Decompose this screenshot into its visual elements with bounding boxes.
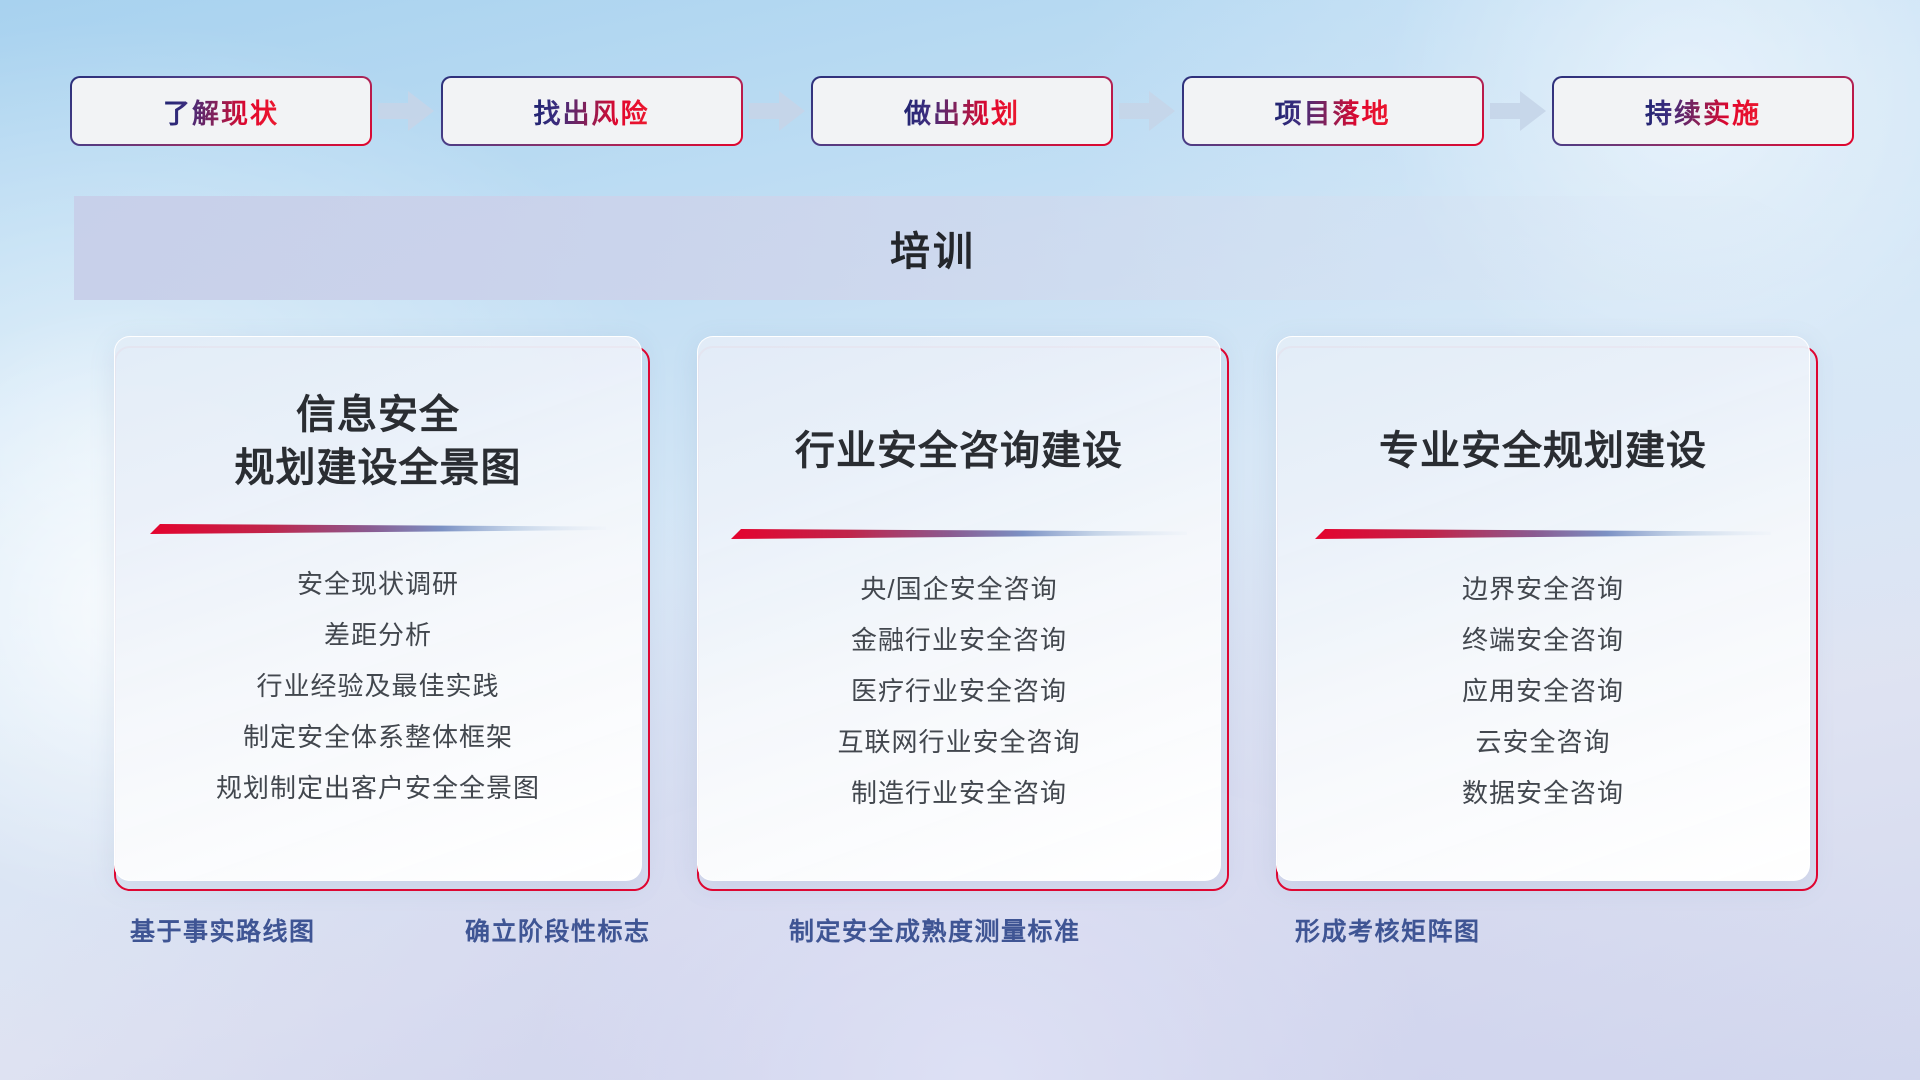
list-item: 医疗行业安全咨询 [851,666,1067,717]
step-box-4[interactable]: 项目落地 [1182,76,1484,146]
card-wrapper-2: 行业安全咨询建设 [697,336,1221,881]
step-arrow-2 [743,91,812,131]
caption-3: 制定安全成熟度测量标准 [789,912,1081,948]
card-divider-3 [1315,526,1771,542]
list-item: 金融行业安全咨询 [851,615,1067,666]
list-item: 互联网行业安全咨询 [837,717,1080,768]
card-list-2: 央/国企安全咨询 金融行业安全咨询 医疗行业安全咨询 互联网行业安全咨询 制造行… [837,564,1080,819]
card-3[interactable]: 专业安全规划建设 [1276,336,1810,881]
caption-2: 确立阶段性标志 [465,912,651,948]
step-box-1[interactable]: 了解现状 [70,76,372,146]
list-item: 规划制定出客户安全全景图 [216,763,540,814]
right-arrow-icon [749,91,805,131]
card-row: 信息安全 规划建设全景图 [114,336,1814,881]
card-wrapper-1: 信息安全 规划建设全景图 [114,336,642,881]
list-item: 应用安全咨询 [1462,666,1624,717]
caption-1: 基于事实路线图 [130,912,316,948]
list-item: 央/国企安全咨询 [860,564,1057,615]
step-label-3: 做出规划 [904,92,1020,131]
process-step-row: 了解现状 找出风险 做出规划 项目落地 [70,75,1854,147]
card-title-1: 信息安全 规划建设全景图 [235,389,522,495]
caption-row: 基于事实路线图 确立阶段性标志 制定安全成熟度测量标准 形成考核矩阵图 [0,912,1920,958]
step-label-5: 持续实施 [1645,92,1761,131]
right-arrow-icon [378,91,434,131]
list-item: 制造行业安全咨询 [851,768,1067,819]
step-arrow-1 [372,91,441,131]
list-item: 安全现状调研 [297,559,459,610]
card-divider-2 [731,526,1187,542]
background-glow-top-right [1340,0,1920,380]
card-list-1: 安全现状调研 差距分析 行业经验及最佳实践 制定安全体系整体框架 规划制定出客户… [216,559,540,814]
card-title-2: 行业安全咨询建设 [795,425,1123,478]
gradient-divider-icon [1315,526,1771,542]
list-item: 制定安全体系整体框架 [243,712,513,763]
step-label-2: 找出风险 [534,92,650,131]
step-box-5[interactable]: 持续实施 [1552,76,1854,146]
card-divider-1 [150,521,606,537]
list-item: 差距分析 [324,610,432,661]
caption-4: 形成考核矩阵图 [1295,912,1481,948]
list-item: 边界安全咨询 [1462,564,1624,615]
card-list-3: 边界安全咨询 终端安全咨询 应用安全咨询 云安全咨询 数据安全咨询 [1462,564,1624,819]
step-box-2[interactable]: 找出风险 [441,76,743,146]
card-1[interactable]: 信息安全 规划建设全景图 [114,336,642,881]
list-item: 行业经验及最佳实践 [256,661,499,712]
step-label-4: 项目落地 [1275,92,1391,131]
card-title-3: 专业安全规划建设 [1379,425,1707,478]
card-2[interactable]: 行业安全咨询建设 [697,336,1221,881]
slide-canvas: 了解现状 找出风险 做出规划 项目落地 [0,0,1920,1080]
list-item: 云安全咨询 [1475,717,1610,768]
list-item: 数据安全咨询 [1462,768,1624,819]
card-wrapper-3: 专业安全规划建设 [1276,336,1810,881]
step-box-3[interactable]: 做出规划 [811,76,1113,146]
gradient-divider-icon [731,526,1187,542]
list-item: 终端安全咨询 [1462,615,1624,666]
right-arrow-icon [1119,91,1175,131]
gradient-divider-icon [150,521,606,537]
step-arrow-3 [1113,91,1182,131]
step-arrow-4 [1484,91,1553,131]
banner-title: 培训 [74,196,1852,300]
right-arrow-icon [1490,91,1546,131]
step-label-1: 了解现状 [163,92,279,131]
training-banner: 培训 [74,196,1852,300]
